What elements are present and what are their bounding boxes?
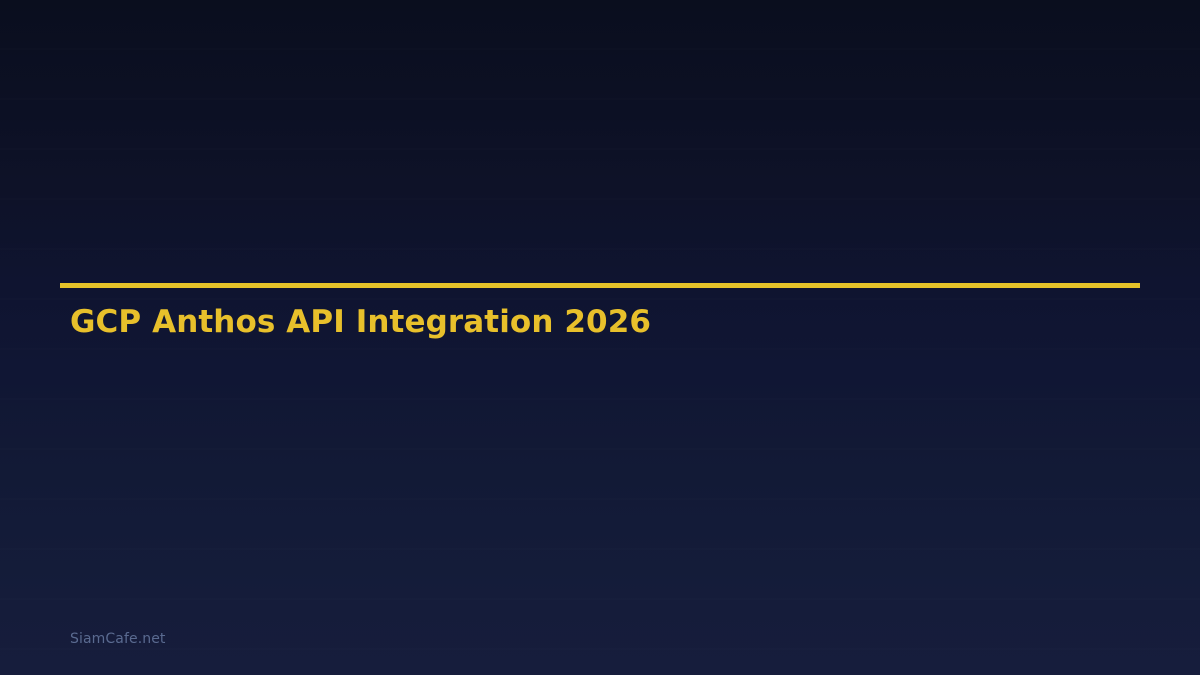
title-block: GCP Anthos API Integration 2026 xyxy=(60,283,1140,341)
page-title: GCP Anthos API Integration 2026 xyxy=(60,288,1140,341)
presentation-slide: GCP Anthos API Integration 2026 SiamCafe… xyxy=(0,0,1200,675)
footer-attribution: SiamCafe.net xyxy=(70,630,166,648)
